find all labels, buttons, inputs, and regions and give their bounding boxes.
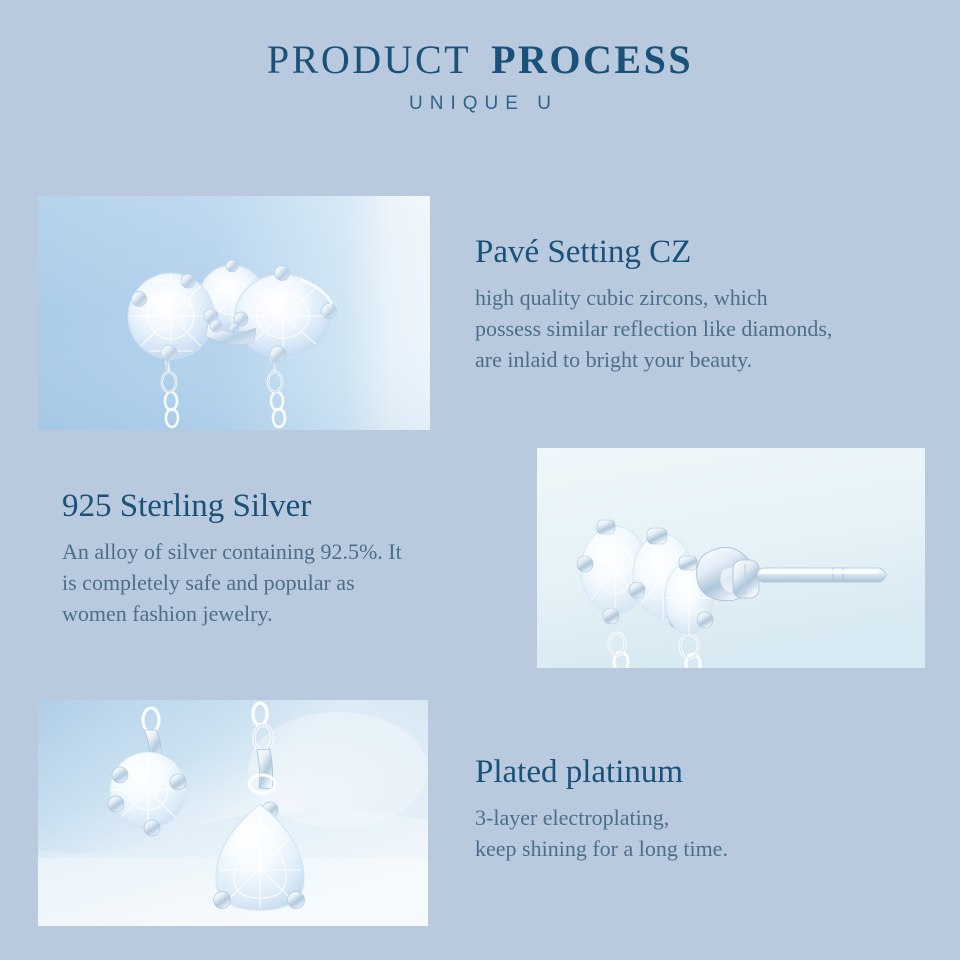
page-subtitle: UNIQUE U — [0, 93, 960, 115]
feature-description: 3-layer electroplating, keep shining for… — [475, 802, 895, 864]
page-header: PRODUCTPROCESS UNIQUE U — [0, 38, 960, 115]
page-title: PRODUCTPROCESS — [0, 38, 960, 82]
feature-description-line: are inlaid to bright your beauty. — [475, 344, 945, 375]
feature-title: 925 Sterling Silver — [62, 486, 482, 526]
feature-description-line: keep shining for a long time. — [475, 833, 895, 864]
product-photo-sterling-silver — [537, 448, 925, 668]
feature-title: Plated platinum — [475, 752, 895, 792]
page-title-word-product: PRODUCT — [267, 37, 471, 82]
feature-title: Pavé Setting CZ — [475, 232, 945, 272]
feature-block-pave-setting: Pavé Setting CZ high quality cubic zirco… — [475, 232, 945, 375]
feature-description-line: women fashion jewelry. — [62, 598, 482, 629]
feature-description-line: is completely safe and popular as — [62, 567, 482, 598]
feature-description-line: high quality cubic zircons, which — [475, 282, 945, 313]
feature-description: An alloy of silver containing 92.5%. It … — [62, 536, 482, 629]
product-photo-plated-platinum — [38, 700, 428, 926]
feature-description-line: An alloy of silver containing 92.5%. It — [62, 536, 482, 567]
product-process-infographic: PRODUCTPROCESS UNIQUE U — [0, 0, 960, 960]
feature-block-plated-platinum: Plated platinum 3-layer electroplating, … — [475, 752, 895, 864]
feature-block-sterling-silver: 925 Sterling Silver An alloy of silver c… — [62, 486, 482, 629]
feature-description-line: possess similar reflection like diamonds… — [475, 313, 945, 344]
product-photo-pave-setting — [38, 196, 430, 430]
feature-description-line: 3-layer electroplating, — [475, 802, 895, 833]
feature-description: high quality cubic zircons, which posses… — [475, 282, 945, 375]
page-title-word-process: PROCESS — [491, 37, 693, 82]
